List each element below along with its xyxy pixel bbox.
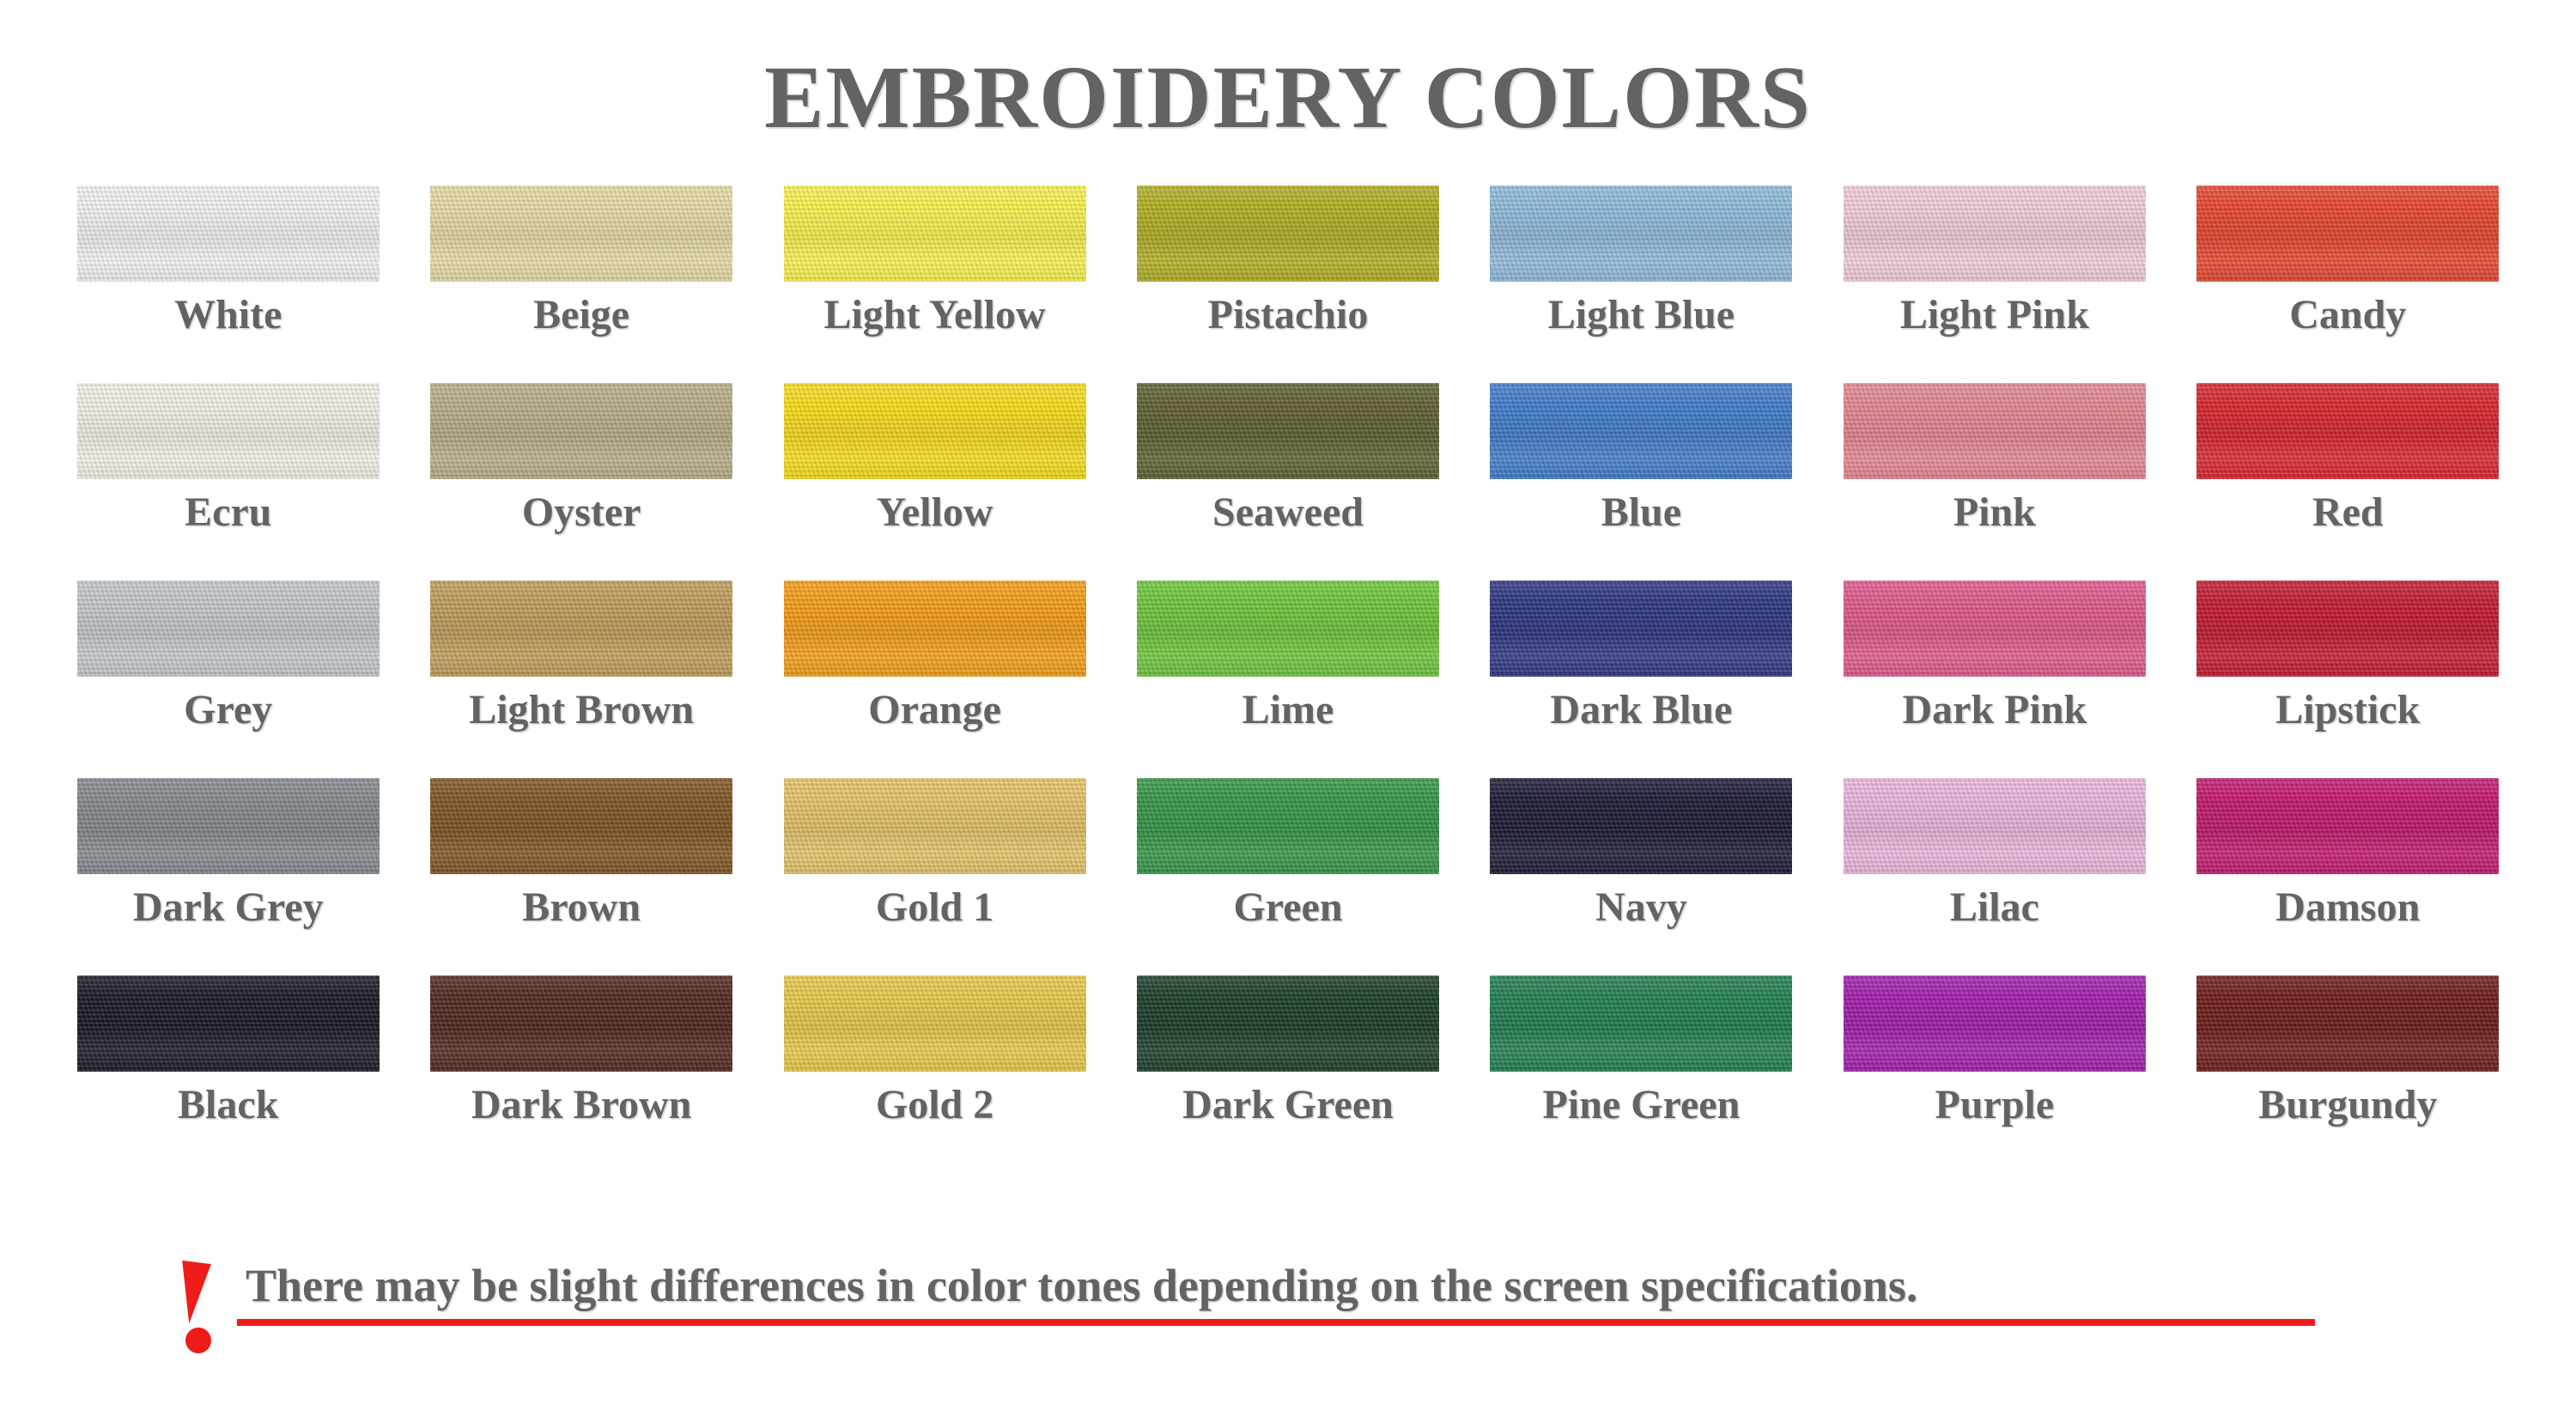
swatch-label: Orange [868, 689, 1001, 732]
thread-swatch[interactable] [1490, 580, 1792, 677]
swatch-cell[interactable]: Dark Green [1111, 975, 1464, 1173]
thread-swatch[interactable] [1490, 778, 1792, 874]
swatch-label: Yellow [877, 491, 993, 534]
swatch-cell[interactable]: White [52, 185, 404, 383]
thread-swatch[interactable] [1137, 185, 1439, 282]
swatch-cell[interactable]: Burgundy [2172, 975, 2524, 1173]
swatch-label: Dark Brown [471, 1084, 691, 1127]
swatch-cell[interactable]: Light Yellow [758, 185, 1111, 383]
thread-swatch[interactable] [430, 383, 732, 479]
thread-swatch[interactable] [1490, 383, 1792, 479]
swatch-cell[interactable]: Black [52, 975, 404, 1173]
exclamation-icon [172, 1261, 225, 1362]
thread-swatch[interactable] [77, 580, 380, 677]
notice-underline [237, 1319, 2315, 1326]
swatch-label: Candy [2289, 294, 2406, 337]
swatch-label: Beige [533, 294, 629, 337]
thread-swatch[interactable] [1844, 975, 2146, 1072]
swatch-label: Green [1233, 886, 1342, 929]
swatch-cell[interactable]: Dark Pink [1818, 580, 2171, 778]
swatch-cell[interactable]: Dark Brown [404, 975, 757, 1173]
swatch-label: Gold 2 [876, 1084, 993, 1127]
swatch-cell[interactable]: Light Brown [404, 580, 757, 778]
swatch-cell[interactable]: Lime [1111, 580, 1464, 778]
thread-swatch[interactable] [2196, 778, 2499, 874]
thread-swatch[interactable] [2196, 580, 2499, 677]
thread-swatch[interactable] [1844, 383, 2146, 479]
swatch-label: Navy [1595, 886, 1687, 929]
thread-swatch[interactable] [1844, 778, 2146, 874]
swatch-label: Pink [1953, 491, 2036, 534]
swatch-label: Grey [184, 689, 272, 732]
swatch-label: Brown [522, 886, 641, 929]
thread-swatch[interactable] [1844, 580, 2146, 677]
thread-swatch[interactable] [77, 383, 380, 479]
swatch-cell[interactable]: Seaweed [1111, 383, 1464, 580]
swatch-label: Light Yellow [823, 294, 1045, 337]
swatch-cell[interactable]: Grey [52, 580, 404, 778]
swatch-label: Red [2312, 491, 2384, 534]
thread-swatch[interactable] [1490, 975, 1792, 1072]
swatch-cell[interactable]: Light Blue [1465, 185, 1818, 383]
swatch-label: Light Brown [469, 689, 694, 732]
swatch-cell[interactable]: Damson [2172, 778, 2524, 975]
thread-swatch[interactable] [1137, 580, 1439, 677]
page-title: EMBROIDERY COLORS [0, 0, 2576, 143]
swatch-cell[interactable]: Ecru [52, 383, 404, 580]
swatch-cell[interactable]: Light Pink [1818, 185, 2171, 383]
swatch-cell[interactable]: Beige [404, 185, 757, 383]
thread-swatch[interactable] [77, 975, 380, 1072]
swatch-label: Oyster [522, 491, 641, 534]
thread-swatch[interactable] [1844, 185, 2146, 282]
swatch-cell[interactable]: Pine Green [1465, 975, 1818, 1173]
swatch-cell[interactable]: Dark Blue [1465, 580, 1818, 778]
swatch-cell[interactable]: Dark Grey [52, 778, 404, 975]
swatch-label: Damson [2275, 886, 2420, 929]
thread-swatch[interactable] [2196, 383, 2499, 479]
swatch-cell[interactable]: Lilac [1818, 778, 2171, 975]
swatch-label: Pistachio [1208, 294, 1369, 337]
swatch-label: Gold 1 [876, 886, 993, 929]
swatch-label: Blue [1601, 491, 1681, 534]
notice-body: There may be slight differences in color… [237, 1261, 2315, 1326]
thread-swatch[interactable] [1137, 778, 1439, 874]
swatch-cell[interactable]: Pink [1818, 383, 2171, 580]
thread-swatch[interactable] [430, 185, 732, 282]
swatch-label: Dark Grey [133, 886, 324, 929]
thread-swatch[interactable] [77, 778, 380, 874]
thread-swatch[interactable] [784, 778, 1086, 874]
screen-color-notice: There may be slight differences in color… [172, 1261, 2315, 1362]
thread-swatch[interactable] [1137, 975, 1439, 1072]
thread-swatch[interactable] [784, 383, 1086, 479]
thread-swatch[interactable] [77, 185, 380, 282]
swatch-label: Burgundy [2258, 1084, 2437, 1127]
swatch-cell[interactable]: Gold 1 [758, 778, 1111, 975]
swatch-cell[interactable]: Candy [2172, 185, 2524, 383]
swatch-cell[interactable]: Oyster [404, 383, 757, 580]
swatch-cell[interactable]: Purple [1818, 975, 2171, 1173]
swatch-cell[interactable]: Blue [1465, 383, 1818, 580]
thread-swatch[interactable] [1490, 185, 1792, 282]
swatch-cell[interactable]: Orange [758, 580, 1111, 778]
thread-swatch[interactable] [2196, 185, 2499, 282]
thread-swatch[interactable] [2196, 975, 2499, 1072]
thread-swatch[interactable] [430, 975, 732, 1072]
swatch-cell[interactable]: Navy [1465, 778, 1818, 975]
swatch-label: Dark Pink [1902, 689, 2087, 732]
swatch-label: Lipstick [2275, 689, 2420, 732]
swatch-label: Seaweed [1212, 491, 1364, 534]
swatch-label: White [174, 294, 282, 337]
swatch-label: Light Blue [1548, 294, 1735, 337]
color-swatch-grid: WhiteBeigeLight YellowPistachioLight Blu… [52, 143, 2524, 1173]
thread-swatch[interactable] [784, 580, 1086, 677]
swatch-cell[interactable]: Brown [404, 778, 757, 975]
swatch-label: Lilac [1950, 886, 2039, 929]
swatch-label: Ecru [185, 491, 271, 534]
notice-text: There may be slight differences in color… [237, 1261, 2315, 1310]
thread-swatch[interactable] [784, 185, 1086, 282]
swatch-label: Light Pink [1900, 294, 2089, 337]
swatch-cell[interactable]: Gold 2 [758, 975, 1111, 1173]
swatch-label: Purple [1935, 1084, 2055, 1127]
swatch-label: Lime [1242, 689, 1334, 732]
swatch-label: Pine Green [1543, 1084, 1741, 1127]
swatch-cell[interactable]: Yellow [758, 383, 1111, 580]
swatch-cell[interactable]: Red [2172, 383, 2524, 580]
swatch-cell[interactable]: Lipstick [2172, 580, 2524, 778]
thread-swatch[interactable] [430, 778, 732, 874]
thread-swatch[interactable] [784, 975, 1086, 1072]
swatch-label: Dark Blue [1550, 689, 1732, 732]
thread-swatch[interactable] [1137, 383, 1439, 479]
swatch-cell[interactable]: Green [1111, 778, 1464, 975]
swatch-cell[interactable]: Pistachio [1111, 185, 1464, 383]
swatch-label: Black [178, 1084, 278, 1127]
swatch-label: Dark Green [1182, 1084, 1394, 1127]
thread-swatch[interactable] [430, 580, 732, 677]
